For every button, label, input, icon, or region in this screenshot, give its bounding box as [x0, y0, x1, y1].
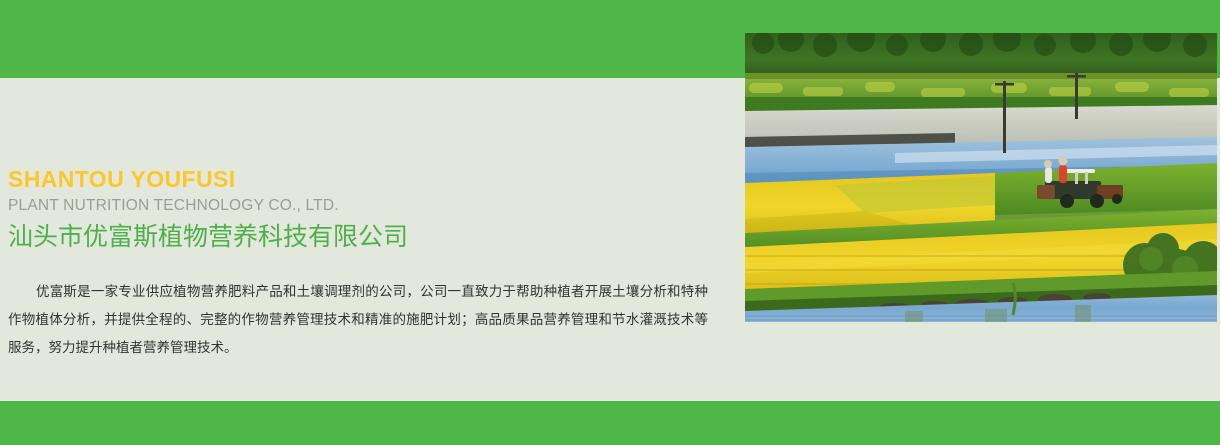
page-root: SHANTOU YOUFUSI PLANT NUTRITION TECHNOLO… — [0, 0, 1220, 445]
hero-photo — [745, 33, 1217, 322]
brand-subtitle-en: PLANT NUTRITION TECHNOLOGY CO., LTD. — [8, 195, 728, 217]
brand-name-cn: 汕头市优富斯植物营养科技有限公司 — [8, 220, 728, 254]
company-intro-paragraph: 优富斯是一家专业供应植物营养肥料产品和土壤调理剂的公司，公司一直致力于帮助种植者… — [8, 278, 708, 362]
bottom-green-band — [0, 401, 1220, 445]
brand-name-en: SHANTOU YOUFUSI — [8, 165, 728, 193]
rice-field-illustration — [745, 33, 1217, 322]
brand-block: SHANTOU YOUFUSI PLANT NUTRITION TECHNOLO… — [8, 165, 728, 254]
